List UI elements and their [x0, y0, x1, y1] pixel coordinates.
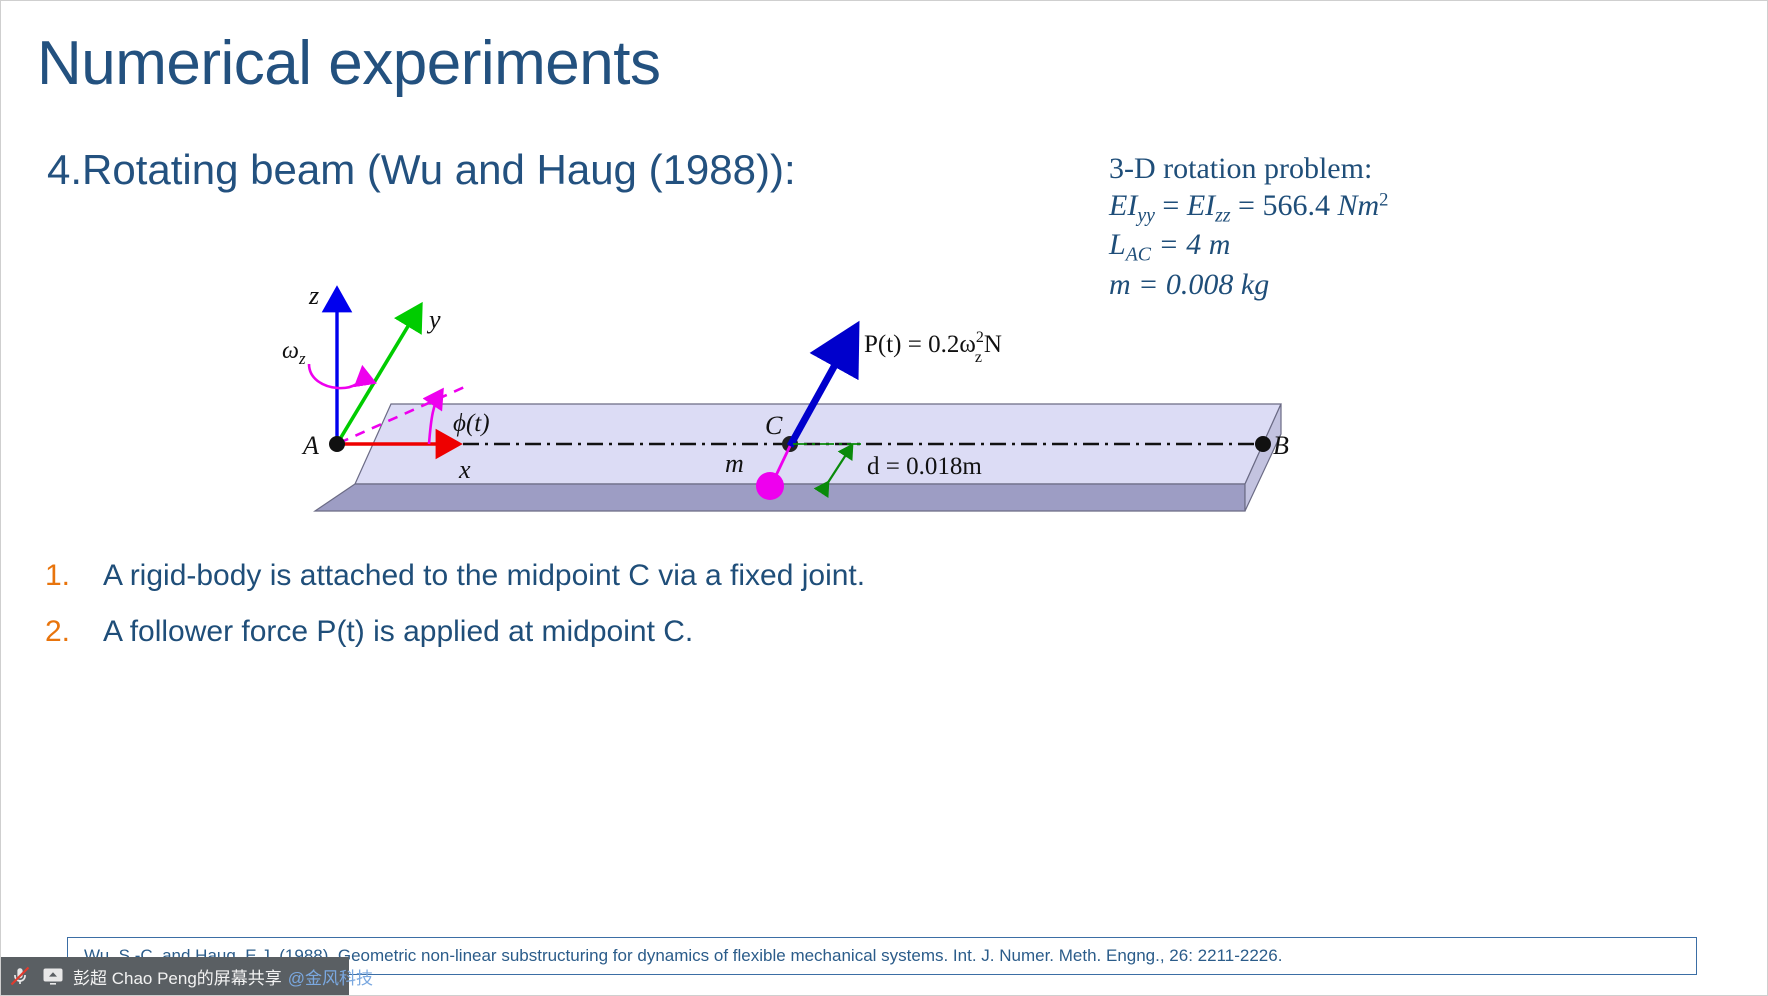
presentation-slide: Numerical experiments 4.Rotating beam (W…: [0, 0, 1768, 996]
point-A-marker: [329, 436, 345, 452]
point-B-label: B: [1273, 431, 1289, 460]
force-P-label: P(t) = 0.2ω2zN: [864, 329, 1002, 366]
microphone-muted-icon[interactable]: [7, 963, 33, 989]
list-item: 2. A follower force P(t) is applied at m…: [45, 615, 1145, 649]
list-item-number: 1.: [45, 559, 103, 593]
screen-share-org: @金风科技: [288, 964, 373, 989]
dim-d-label: d = 0.018m: [867, 453, 982, 480]
param-EI-unit: Nm: [1337, 189, 1379, 222]
point-A-label: A: [301, 431, 319, 460]
mass-label: m: [725, 449, 744, 478]
page-title: Numerical experiments: [37, 31, 661, 96]
list-item: 1. A rigid-body is attached to the midpo…: [45, 559, 1145, 593]
omega-z-label: ωz: [282, 338, 306, 368]
axis-y-label: y: [426, 305, 441, 334]
param-EI-eq1: =: [1155, 189, 1187, 222]
point-B-marker: [1255, 436, 1271, 452]
list-item-text: A rigid-body is attached to the midpoint…: [103, 559, 865, 593]
axis-x-label: x: [458, 455, 471, 484]
phi-label: ϕ(t): [453, 410, 490, 437]
screen-share-bar[interactable]: 彭超 Chao Peng的屏幕共享 @金风科技: [1, 957, 349, 995]
bullet-list: 1. A rigid-body is attached to the midpo…: [45, 559, 1145, 671]
screen-share-icon[interactable]: [40, 963, 66, 989]
param-L-value: = 4 m: [1151, 228, 1230, 261]
param-EI-sub1: yy: [1137, 204, 1155, 226]
param-EI-unit-exponent: 2: [1379, 189, 1388, 210]
mass-marker: [756, 472, 784, 500]
screen-share-label: 彭超 Chao Peng的屏幕共享: [73, 964, 282, 989]
list-item-number: 2.: [45, 615, 103, 649]
param-length: LAC = 4 m: [1109, 227, 1388, 266]
param-heading: 3-D rotation problem:: [1109, 151, 1388, 188]
rotating-beam-diagram: z y x ωz ϕ(t) A B C P(t): [281, 266, 1311, 526]
param-L-sub: AC: [1126, 243, 1151, 265]
point-C-label: C: [765, 411, 783, 440]
param-EI-lhs1: EI: [1109, 189, 1137, 222]
list-item-text: A follower force P(t) is applied at midp…: [103, 615, 693, 649]
section-heading: 4.Rotating beam (Wu and Haug (1988)):: [47, 146, 796, 194]
param-EI-sub2: zz: [1215, 204, 1230, 226]
param-L-symbol: L: [1109, 228, 1126, 261]
param-bending-stiffness: EIyy = EIzz = 566.4 Nm2: [1109, 188, 1388, 227]
param-EI-lhs2: EI: [1187, 189, 1215, 222]
param-EI-eq2: = 566.4: [1231, 189, 1338, 222]
axis-z-label: z: [308, 281, 319, 310]
